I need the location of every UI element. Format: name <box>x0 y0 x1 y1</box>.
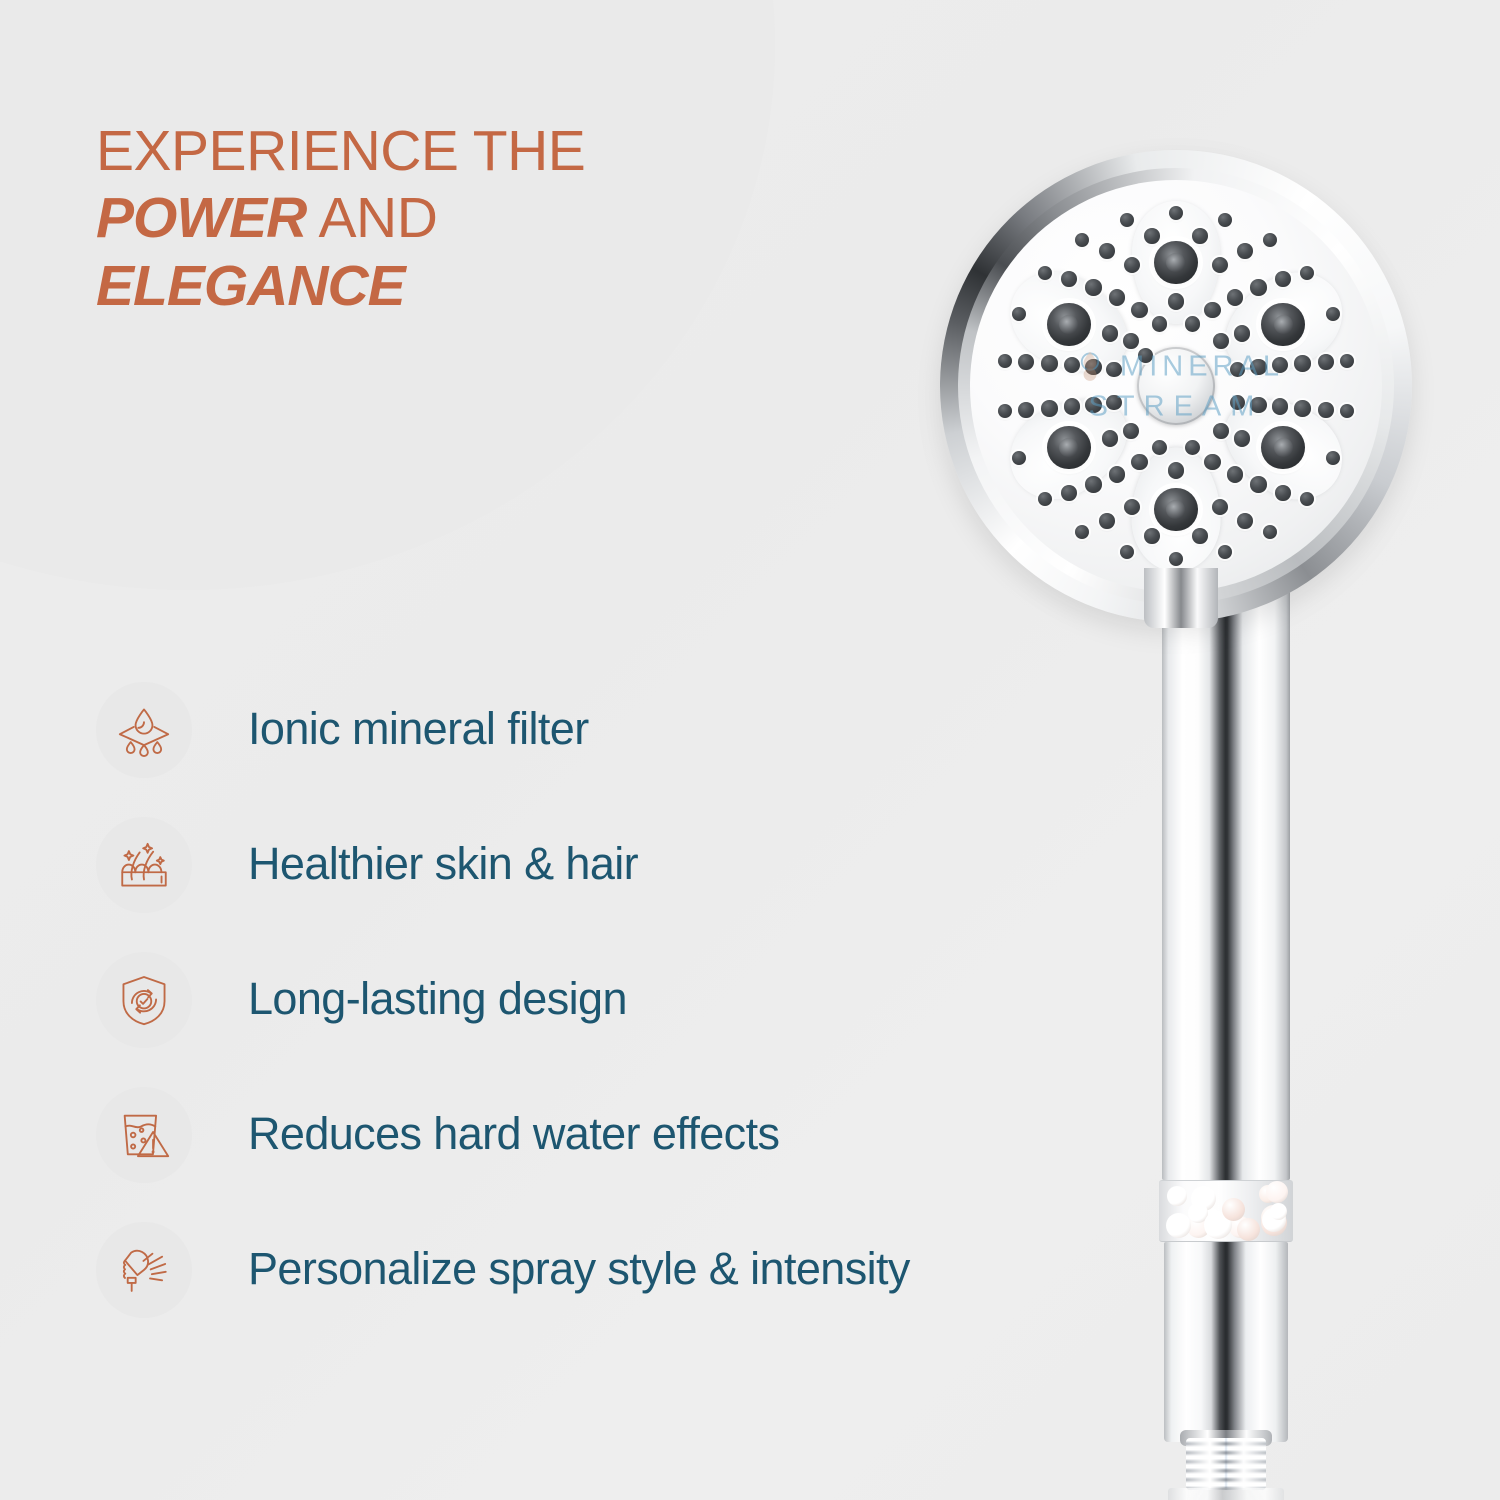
spray-nozzle <box>1038 492 1052 506</box>
feature-label: Long-lasting design <box>248 973 627 1025</box>
spray-nozzle <box>1041 400 1057 416</box>
spray-nozzle <box>1250 476 1266 492</box>
spray-nozzle <box>1168 293 1184 309</box>
headline-line-3: ELEGANCE <box>96 253 585 320</box>
spray-face: MINERAL STREAM <box>940 150 1412 622</box>
spray-nozzle <box>1213 423 1229 439</box>
threaded-connector <box>1186 1438 1266 1490</box>
spray-nozzle <box>1227 289 1243 305</box>
spray-nozzle <box>1131 454 1147 470</box>
spray-nozzle <box>1109 466 1125 482</box>
mineral-bead <box>1237 1218 1260 1241</box>
feature-label: Reduces hard water effects <box>248 1108 779 1160</box>
shield-refresh-check-icon <box>96 952 192 1048</box>
spray-nozzle <box>998 404 1012 418</box>
mineral-bead <box>1266 1181 1288 1203</box>
feature-list: Ionic mineral filter Healthier skin & ha… <box>96 662 1056 1337</box>
handle-lower-body <box>1164 1242 1288 1442</box>
spray-nozzle <box>1106 362 1122 378</box>
large-spray-nozzle <box>1047 426 1090 469</box>
spray-nozzle <box>1212 257 1228 273</box>
headline-line-2: POWER AND <box>96 185 585 252</box>
spray-nozzle <box>1300 266 1314 280</box>
spray-nozzle <box>1102 430 1118 446</box>
spray-nozzle <box>1061 485 1077 501</box>
spray-nozzle <box>1204 454 1220 470</box>
spray-nozzle <box>1018 402 1034 418</box>
spray-nozzle <box>1294 400 1310 416</box>
spray-nozzle <box>1263 233 1277 247</box>
feature-row-personalize-spray: Personalize spray style & intensity <box>96 1202 1056 1337</box>
spray-nozzle <box>1227 466 1243 482</box>
spray-nozzle <box>1085 476 1101 492</box>
spray-nozzle <box>1340 354 1354 368</box>
headline-text-elegance: ELEGANCE <box>96 254 405 318</box>
spray-nozzle <box>1272 357 1288 373</box>
spray-nozzle <box>1012 307 1026 321</box>
spray-nozzle <box>1124 499 1140 515</box>
feature-row-reduces-hard-water: Reduces hard water effects <box>96 1067 1056 1202</box>
mineral-bead <box>1167 1186 1187 1206</box>
spray-nozzle <box>1102 325 1118 341</box>
feature-row-ionic-mineral-filter: Ionic mineral filter <box>96 662 1056 797</box>
large-spray-nozzle <box>1154 241 1197 284</box>
mineral-filter-droplet-icon <box>96 682 192 778</box>
handle-reflection <box>1168 1488 1284 1500</box>
spray-nozzle <box>1230 362 1246 378</box>
spray-nozzle <box>1099 513 1115 529</box>
spray-nozzle <box>1085 359 1101 375</box>
mineral-bead <box>1270 1203 1287 1220</box>
large-spray-nozzle <box>1261 303 1304 346</box>
spray-nozzle <box>1340 404 1354 418</box>
spray-nozzle <box>1169 206 1183 220</box>
feature-label: Personalize spray style & intensity <box>248 1243 910 1295</box>
mineral-bead <box>1166 1213 1191 1238</box>
spray-nozzle <box>1218 213 1232 227</box>
spray-nozzle <box>1168 462 1184 478</box>
spray-nozzle <box>1250 279 1266 295</box>
spray-nozzle <box>1138 348 1153 363</box>
page-title: EXPERIENCE THE POWER AND ELEGANCE <box>96 118 585 320</box>
spray-nozzle <box>1038 266 1052 280</box>
spray-nozzle <box>1275 485 1291 501</box>
spray-nozzle <box>1185 316 1201 332</box>
headline-text-and: AND <box>306 186 437 250</box>
spray-nozzle <box>1075 525 1089 539</box>
spray-nozzle <box>1123 423 1139 439</box>
spray-nozzle <box>1263 525 1277 539</box>
headline-text-power: POWER <box>96 186 306 250</box>
spray-nozzle <box>1234 430 1250 446</box>
spray-nozzle <box>1169 552 1183 566</box>
spray-nozzle <box>1131 302 1147 318</box>
spray-nozzle <box>1185 440 1201 456</box>
spray-nozzle <box>1085 397 1101 413</box>
feature-row-healthier-skin-hair: Healthier skin & hair <box>96 797 1056 932</box>
spray-nozzle <box>1218 545 1232 559</box>
spray-nozzle <box>1144 528 1160 544</box>
spray-nozzle <box>1152 316 1168 332</box>
large-spray-nozzle <box>1154 488 1197 531</box>
spray-nozzle <box>1204 302 1220 318</box>
spray-nozzle <box>1075 233 1089 247</box>
spray-nozzle <box>1061 271 1077 287</box>
spray-nozzle <box>1250 397 1266 413</box>
spray-nozzle <box>1109 289 1125 305</box>
large-spray-nozzle <box>1261 426 1304 469</box>
nozzle-face-plate <box>970 180 1382 592</box>
large-spray-nozzle <box>1047 303 1090 346</box>
spray-nozzle <box>1318 402 1334 418</box>
spray-nozzle <box>1237 243 1253 259</box>
hard-water-warning-icon <box>96 1087 192 1183</box>
spray-nozzle <box>1318 354 1334 370</box>
spray-nozzle <box>1212 499 1228 515</box>
head-to-handle-stem <box>1144 568 1218 628</box>
spray-nozzle <box>1123 333 1139 349</box>
headline-text-experience: EXPERIENCE THE <box>96 119 585 183</box>
spray-nozzle <box>1192 228 1208 244</box>
product-feature-graphic: EXPERIENCE THE POWER AND ELEGANCE Ionic … <box>0 0 1500 1500</box>
spray-nozzle <box>1294 355 1310 371</box>
spray-nozzle <box>1192 528 1208 544</box>
spray-nozzle <box>1250 359 1266 375</box>
spray-nozzle <box>1064 398 1080 414</box>
feature-label: Ionic mineral filter <box>248 703 589 755</box>
spray-nozzle <box>1237 513 1253 529</box>
spray-nozzle <box>1213 333 1229 349</box>
spray-nozzle <box>1018 354 1034 370</box>
spray-nozzle <box>1085 279 1101 295</box>
feature-label: Healthier skin & hair <box>248 838 638 890</box>
spray-nozzle <box>1120 213 1134 227</box>
spray-nozzle <box>998 354 1012 368</box>
shower-handle <box>1162 480 1290 1500</box>
feature-row-long-lasting-design: Long-lasting design <box>96 932 1056 1067</box>
spray-nozzle <box>1041 355 1057 371</box>
hair-follicle-sparkle-icon <box>96 817 192 913</box>
spray-nozzle <box>1099 243 1115 259</box>
spray-nozzle <box>1275 271 1291 287</box>
spray-nozzle <box>1120 545 1134 559</box>
headline-line-1: EXPERIENCE THE <box>96 118 585 185</box>
spray-nozzle <box>1012 451 1026 465</box>
handheld-shower-spray-icon <box>96 1222 192 1318</box>
mineral-bead <box>1222 1198 1245 1221</box>
spray-nozzle <box>1106 395 1122 411</box>
mineral-bead-window <box>1159 1180 1293 1242</box>
spray-nozzle <box>1234 325 1250 341</box>
spray-nozzle <box>1300 492 1314 506</box>
